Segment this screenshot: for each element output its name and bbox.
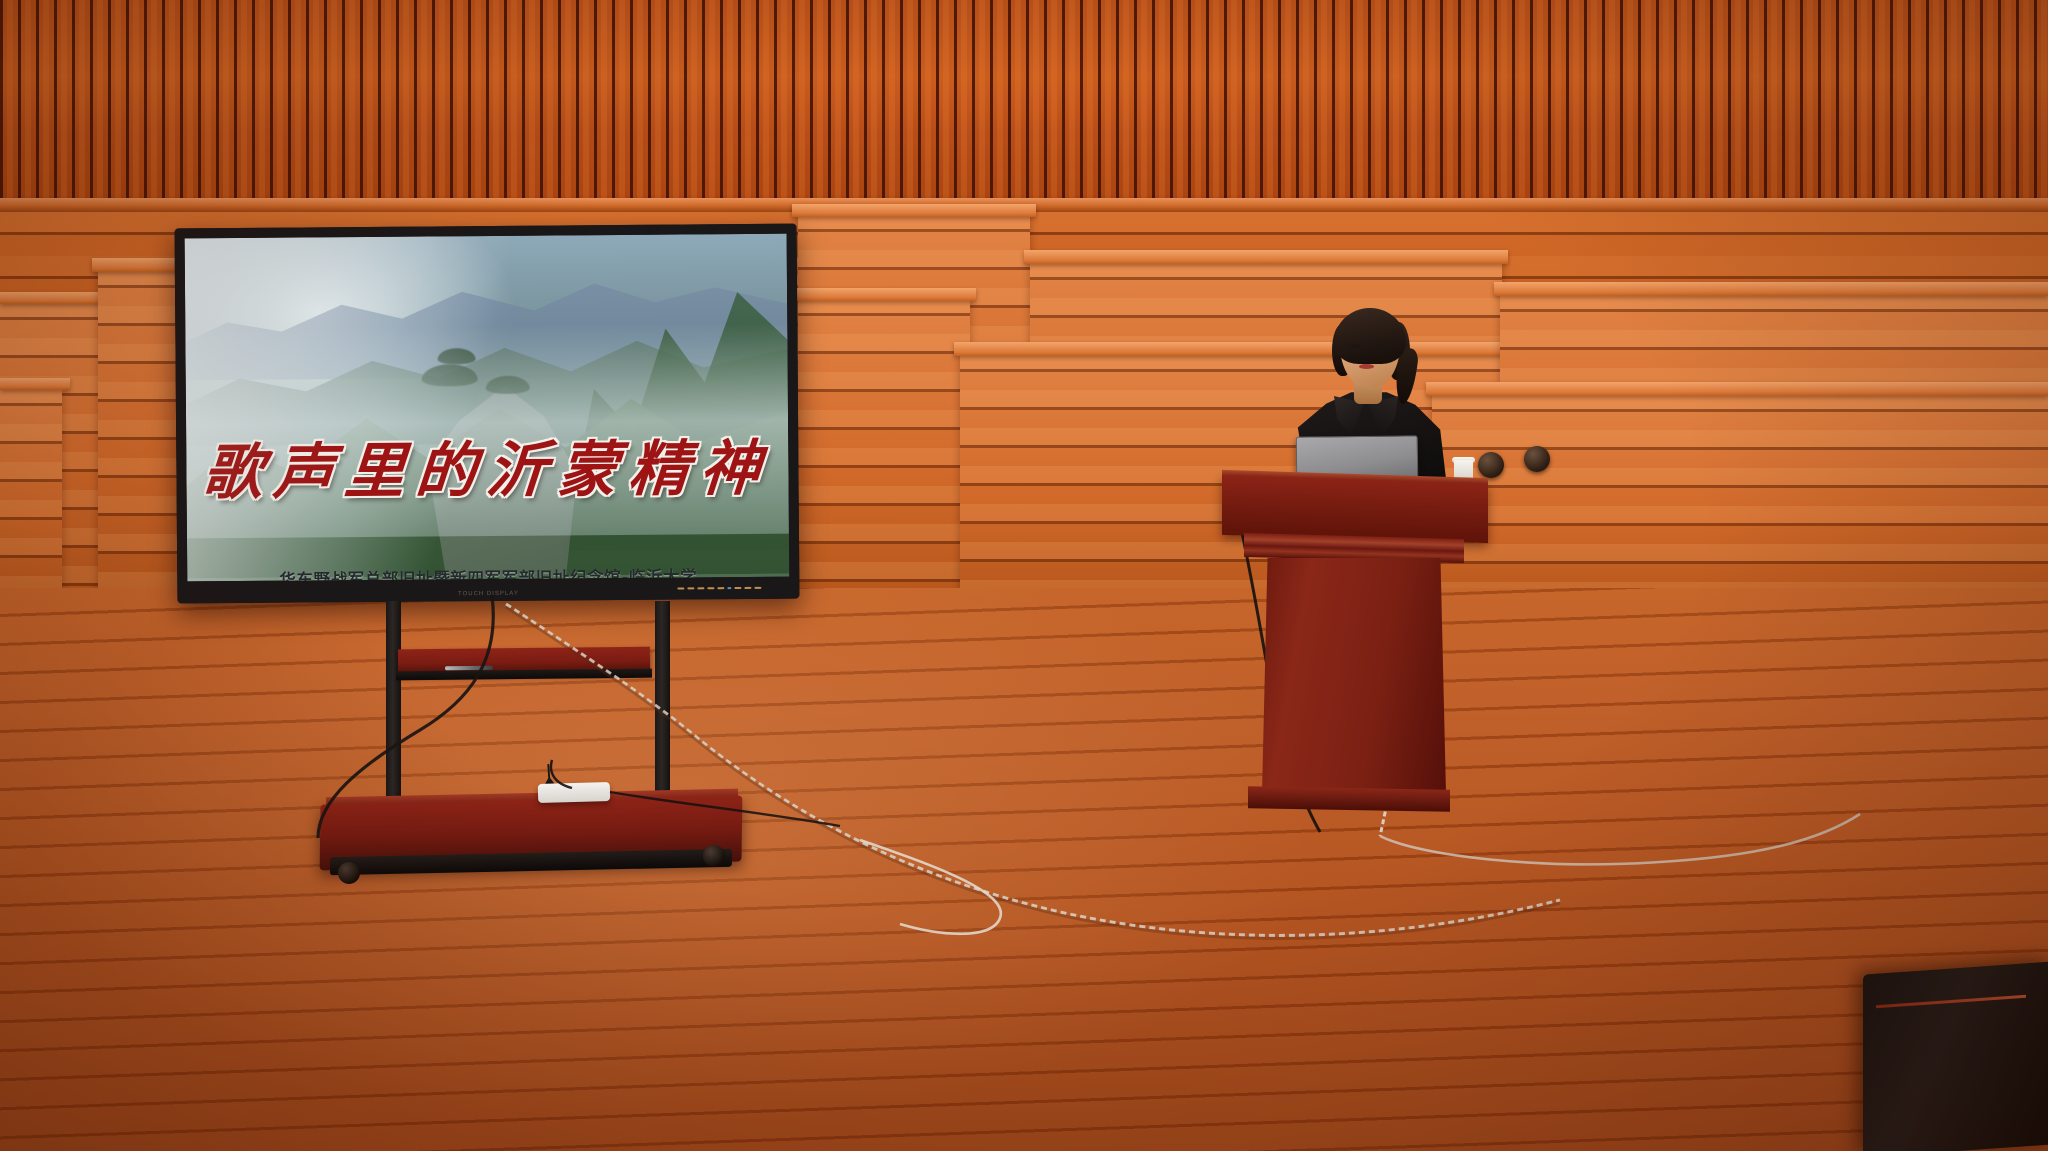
bleacher-step-top	[1494, 282, 2048, 296]
interactive-display[interactable]: 歌声里的沂蒙精神 华东野战军总部旧址暨新四军军部旧址纪念馆-临沂大学 国家革命文…	[175, 224, 800, 604]
power-strip[interactable]	[538, 782, 610, 803]
stage-floor	[0, 588, 2048, 1151]
eye-right	[1376, 344, 1385, 348]
bleacher-step-top	[792, 288, 976, 301]
led-indicator	[717, 587, 724, 590]
stage-speaker	[1863, 961, 2048, 1151]
led-indicator	[744, 587, 751, 590]
wall-upper-slat-panel	[0, 0, 2048, 212]
lectern-body	[1262, 558, 1446, 794]
bleacher-caster	[1524, 446, 1550, 472]
stand-caster	[338, 862, 360, 884]
display-brand-label: TOUCH DISPLAY	[458, 591, 519, 597]
bleacher-caster	[1478, 452, 1504, 478]
display-bezel	[175, 224, 800, 604]
eye-left	[1351, 344, 1360, 348]
led-indicator	[707, 587, 714, 590]
lectern-base	[1248, 786, 1450, 812]
led-indicator	[687, 587, 694, 590]
lecture-hall-scene: 歌声里的沂蒙精神 华东野战军总部旧址暨新四军军部旧址纪念馆-临沂大学 国家革命文…	[0, 0, 2048, 1151]
bleacher-step	[1432, 392, 2048, 612]
mouth	[1359, 364, 1374, 369]
bleacher-step-top	[1426, 382, 2048, 396]
stylus-pen[interactable]	[445, 666, 493, 671]
stand-caster	[703, 845, 725, 867]
bleacher-step-top	[0, 378, 70, 390]
hair-top	[1334, 308, 1406, 364]
bleacher-step	[0, 386, 62, 612]
bleacher-step-top	[792, 204, 1036, 217]
led-indicator	[754, 587, 761, 590]
led-indicator	[697, 587, 704, 590]
led-indicator	[734, 587, 741, 590]
bleacher-step	[798, 296, 970, 612]
bleacher-step-top	[1024, 250, 1508, 264]
led-indicator	[677, 587, 684, 590]
power-led-indicator	[727, 587, 731, 590]
